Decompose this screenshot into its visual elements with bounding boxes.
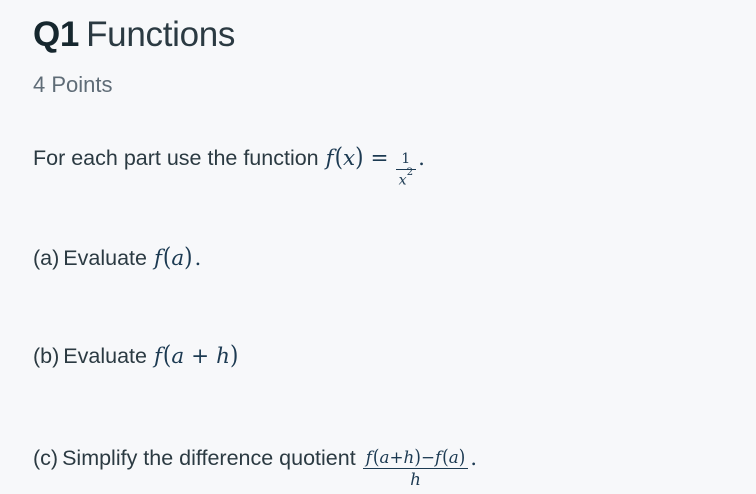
part-b-line: (b) Evaluate f(a + h) [33, 341, 238, 372]
open-paren-icon-1: ( [373, 446, 380, 468]
close-paren-icon: ) [230, 339, 238, 374]
part-c-period: . [468, 444, 477, 474]
intro-text: For each part use the function [33, 143, 319, 173]
function-name-f: f [326, 144, 335, 174]
part-c-text: Simplify the difference quotient [62, 443, 356, 473]
function-name-f-2: f [435, 448, 442, 467]
question-title-text: Functions [86, 15, 235, 54]
plus-sign: + [191, 342, 209, 372]
close-paren-icon-1: ) [414, 446, 421, 468]
function-name-f: f [154, 342, 163, 372]
function-name-f: f [154, 244, 163, 274]
open-paren-icon: ( [163, 339, 171, 374]
difference-quotient-denominator: h [407, 470, 424, 489]
minus-sign: − [421, 448, 435, 467]
part-a-label: (a) [33, 243, 59, 273]
part-a-math-expression: f(a). [154, 244, 201, 274]
part-b-math-expression: f(a + h) [154, 342, 238, 372]
part-c-math-expression: f(a+h)−f(a) h . [363, 444, 477, 491]
open-paren-icon: ( [335, 141, 343, 176]
question-points: 4 Points [33, 71, 113, 99]
argument-h: h [216, 342, 230, 372]
part-c-line: (c) Simplify the difference quotient f(a… [33, 443, 477, 491]
argument-h: h [404, 447, 415, 467]
question-number: Q1 [33, 15, 79, 54]
part-c-label: (c) [33, 443, 58, 473]
intro-line: For each part use the function f(x) = 1 … [33, 143, 425, 191]
argument-a: a [171, 342, 184, 372]
part-b-text: Evaluate [63, 341, 147, 371]
argument-a-1: a [379, 447, 389, 467]
open-paren-icon: ( [163, 241, 171, 276]
fraction-denominator: x2 [396, 171, 417, 190]
difference-quotient-numerator: f(a+h)−f(a) [363, 448, 469, 467]
close-paren-icon-2: ) [459, 446, 466, 468]
fraction-numerator: 1 [398, 152, 413, 168]
variable-x: x [343, 144, 355, 174]
open-paren-icon-2: ( [442, 446, 449, 468]
question-page: Q1Functions 4 Points For each part use t… [0, 0, 756, 494]
intro-math-expression: f(x) = 1 x2 . [326, 144, 425, 191]
fraction-one-over-x-squared: 1 x2 [396, 152, 417, 189]
function-name-f-1: f [366, 448, 373, 467]
part-a-period: . [193, 244, 202, 274]
denominator-h: h [410, 469, 421, 489]
part-b-label: (b) [33, 341, 59, 371]
close-paren-icon: ) [355, 141, 363, 176]
argument-a-2: a [449, 447, 459, 467]
close-paren-icon: ) [184, 241, 192, 276]
denominator-base-x: x [399, 173, 407, 189]
part-a-line: (a) Evaluate f(a). [33, 243, 201, 274]
equals-sign: = [371, 144, 389, 174]
argument-a: a [171, 244, 184, 274]
denominator-exponent-2: 2 [407, 167, 414, 178]
difference-quotient-fraction: f(a+h)−f(a) h [363, 448, 469, 489]
page-title: Q1Functions [33, 14, 235, 56]
part-a-text: Evaluate [63, 243, 147, 273]
plus-sign: + [389, 448, 403, 467]
intro-period: . [416, 144, 425, 174]
